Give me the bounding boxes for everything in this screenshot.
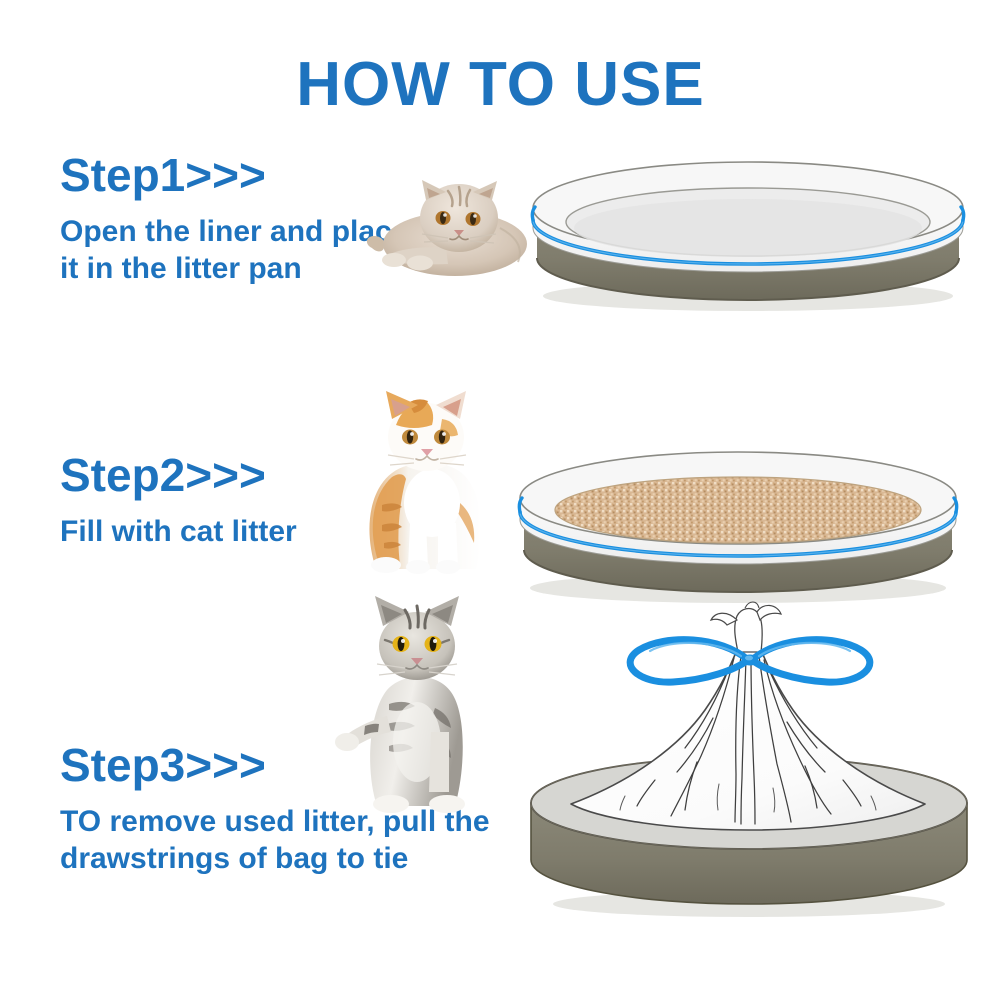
litter-pan-with-tied-bag-illustration <box>505 598 985 918</box>
litter-pan-filled-with-litter-illustration <box>490 440 985 605</box>
step-3-description: TO remove used litter, pull the drawstri… <box>60 804 530 877</box>
gray-tabby-cat-standing-photo <box>325 592 500 814</box>
page-title: HOW TO USE <box>0 52 1001 117</box>
how-to-use-infographic: HOW TO USE Step1>>> Open the liner and p… <box>0 0 1001 1001</box>
litter-pan-with-empty-liner-illustration <box>505 150 990 315</box>
orange-white-cat-sitting-photo <box>352 383 502 575</box>
